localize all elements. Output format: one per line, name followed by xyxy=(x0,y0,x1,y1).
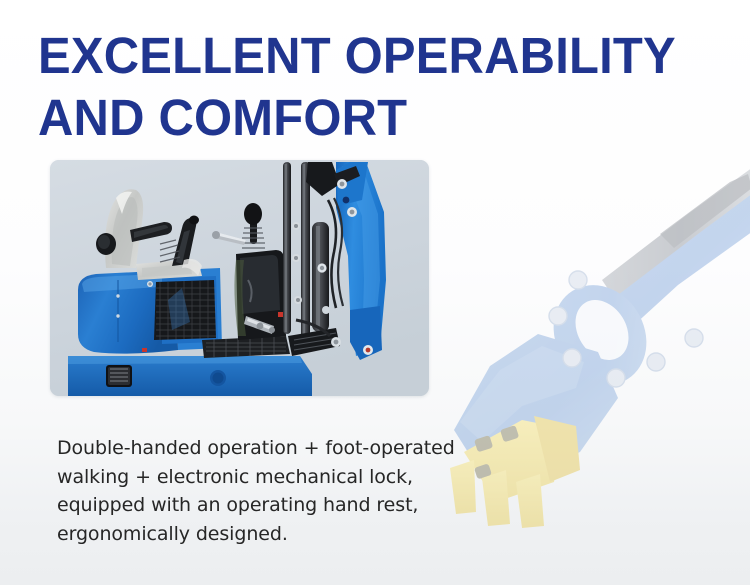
watermark-dipper-arm xyxy=(568,182,750,358)
page-title-line-1: EXCELLENT OPERABILITY xyxy=(38,25,716,87)
watermark-tooth-2 xyxy=(482,470,510,526)
watermark-cylinder-rod xyxy=(660,174,750,248)
description-line-2: walking + electronic mechanical lock, xyxy=(57,463,477,492)
joystick-knob xyxy=(244,203,262,225)
product-photo-svg xyxy=(50,160,429,396)
boom-cylinder xyxy=(312,222,329,332)
watermark-tooth-3 xyxy=(516,474,544,528)
page-title: EXCELLENT OPERABILITY AND COMFORT xyxy=(38,25,744,149)
excavator-undercarriage xyxy=(68,356,312,396)
promo-banner: EXCELLENT OPERABILITY AND COMFORT xyxy=(0,0,750,585)
watermark-bucket-shell xyxy=(454,334,618,478)
watermark-hydraulic-cylinder xyxy=(602,162,750,298)
watermark-excavator-arm-illustration xyxy=(430,130,750,530)
description-text: Double-handed operation + foot-operated … xyxy=(57,434,477,548)
watermark-adapter-hole-2 xyxy=(500,425,519,442)
page-title-line-2: AND COMFORT xyxy=(38,87,716,149)
description-line-3: equipped with an operating hand rest, xyxy=(57,491,477,520)
watermark-bucket-adapter xyxy=(464,420,562,502)
watermark-bucket-highlight xyxy=(460,346,584,442)
description-line-4: ergonomically designed. xyxy=(57,520,477,549)
product-photo xyxy=(50,160,429,396)
watermark-svg xyxy=(430,130,750,530)
watermark-side-cutter xyxy=(534,416,580,482)
excavator-engine-housing xyxy=(78,268,222,354)
watermark-bolt-group xyxy=(549,271,703,387)
description-line-1: Double-handed operation + foot-operated xyxy=(57,434,477,463)
watermark-pivot-collar xyxy=(535,268,665,403)
